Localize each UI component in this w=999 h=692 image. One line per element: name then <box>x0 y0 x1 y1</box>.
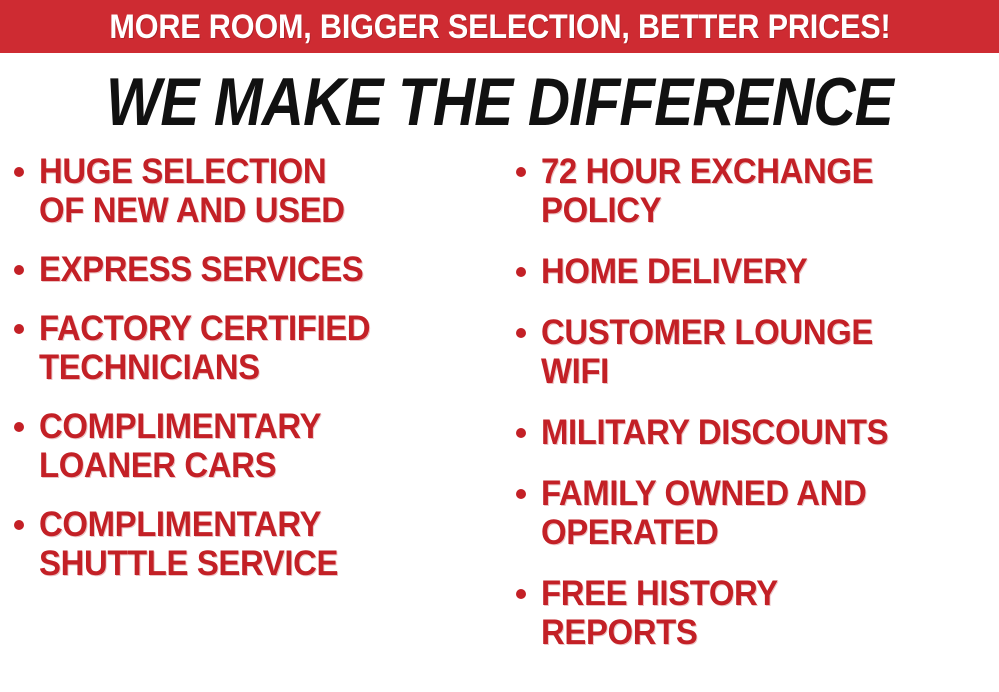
list-item: 72 HOUR EXCHANGE POLICY <box>516 152 999 230</box>
bullet-dot-icon <box>14 167 24 177</box>
bullet-dot-icon <box>14 422 24 432</box>
top-promo-banner-text: MORE ROOM, BIGGER SELECTION, BETTER PRIC… <box>109 10 890 44</box>
bullet-dot-icon <box>14 324 24 334</box>
bullet-dot-icon <box>516 589 526 599</box>
list-item: FREE HISTORY REPORTS <box>516 574 999 652</box>
list-item-label: 72 HOUR EXCHANGE POLICY <box>541 152 972 230</box>
list-item-label: FACTORY CERTIFIED TECHNICIANS <box>39 309 476 387</box>
list-item-label: HOME DELIVERY <box>541 252 972 291</box>
top-promo-banner: MORE ROOM, BIGGER SELECTION, BETTER PRIC… <box>0 0 999 53</box>
list-item: MILITARY DISCOUNTS <box>516 413 999 452</box>
list-item-label: EXPRESS SERVICES <box>39 250 476 289</box>
list-item: FAMILY OWNED AND OPERATED <box>516 474 999 552</box>
bullet-dot-icon <box>516 489 526 499</box>
bullet-dot-icon <box>516 267 526 277</box>
list-item-label: HUGE SELECTION OF NEW AND USED <box>39 152 476 230</box>
benefits-columns: HUGE SELECTION OF NEW AND USED EXPRESS S… <box>0 152 999 692</box>
promo-banner-page: MORE ROOM, BIGGER SELECTION, BETTER PRIC… <box>0 0 999 692</box>
list-item: COMPLIMENTARY SHUTTLE SERVICE <box>14 505 504 583</box>
list-item-label: FAMILY OWNED AND OPERATED <box>541 474 972 552</box>
bullet-dot-icon <box>14 520 24 530</box>
list-item-label: FREE HISTORY REPORTS <box>541 574 972 652</box>
list-item: HOME DELIVERY <box>516 252 999 291</box>
benefits-column-left: HUGE SELECTION OF NEW AND USED EXPRESS S… <box>14 152 504 603</box>
list-item: COMPLIMENTARY LOANER CARS <box>14 407 504 485</box>
bullet-dot-icon <box>516 167 526 177</box>
list-item-label: COMPLIMENTARY LOANER CARS <box>39 407 476 485</box>
list-item: HUGE SELECTION OF NEW AND USED <box>14 152 504 230</box>
bullet-dot-icon <box>516 428 526 438</box>
list-item-label: CUSTOMER LOUNGE WIFI <box>541 313 972 391</box>
bullet-dot-icon <box>516 328 526 338</box>
list-item: FACTORY CERTIFIED TECHNICIANS <box>14 309 504 387</box>
list-item-label: COMPLIMENTARY SHUTTLE SERVICE <box>39 505 476 583</box>
list-item-label: MILITARY DISCOUNTS <box>541 413 972 452</box>
page-title: WE MAKE THE DIFFERENCE <box>106 68 893 136</box>
bullet-dot-icon <box>14 265 24 275</box>
list-item: EXPRESS SERVICES <box>14 250 504 289</box>
benefits-column-right: 72 HOUR EXCHANGE POLICY HOME DELIVERY CU… <box>516 152 999 674</box>
headline-container: WE MAKE THE DIFFERENCE <box>0 64 999 140</box>
list-item: CUSTOMER LOUNGE WIFI <box>516 313 999 391</box>
